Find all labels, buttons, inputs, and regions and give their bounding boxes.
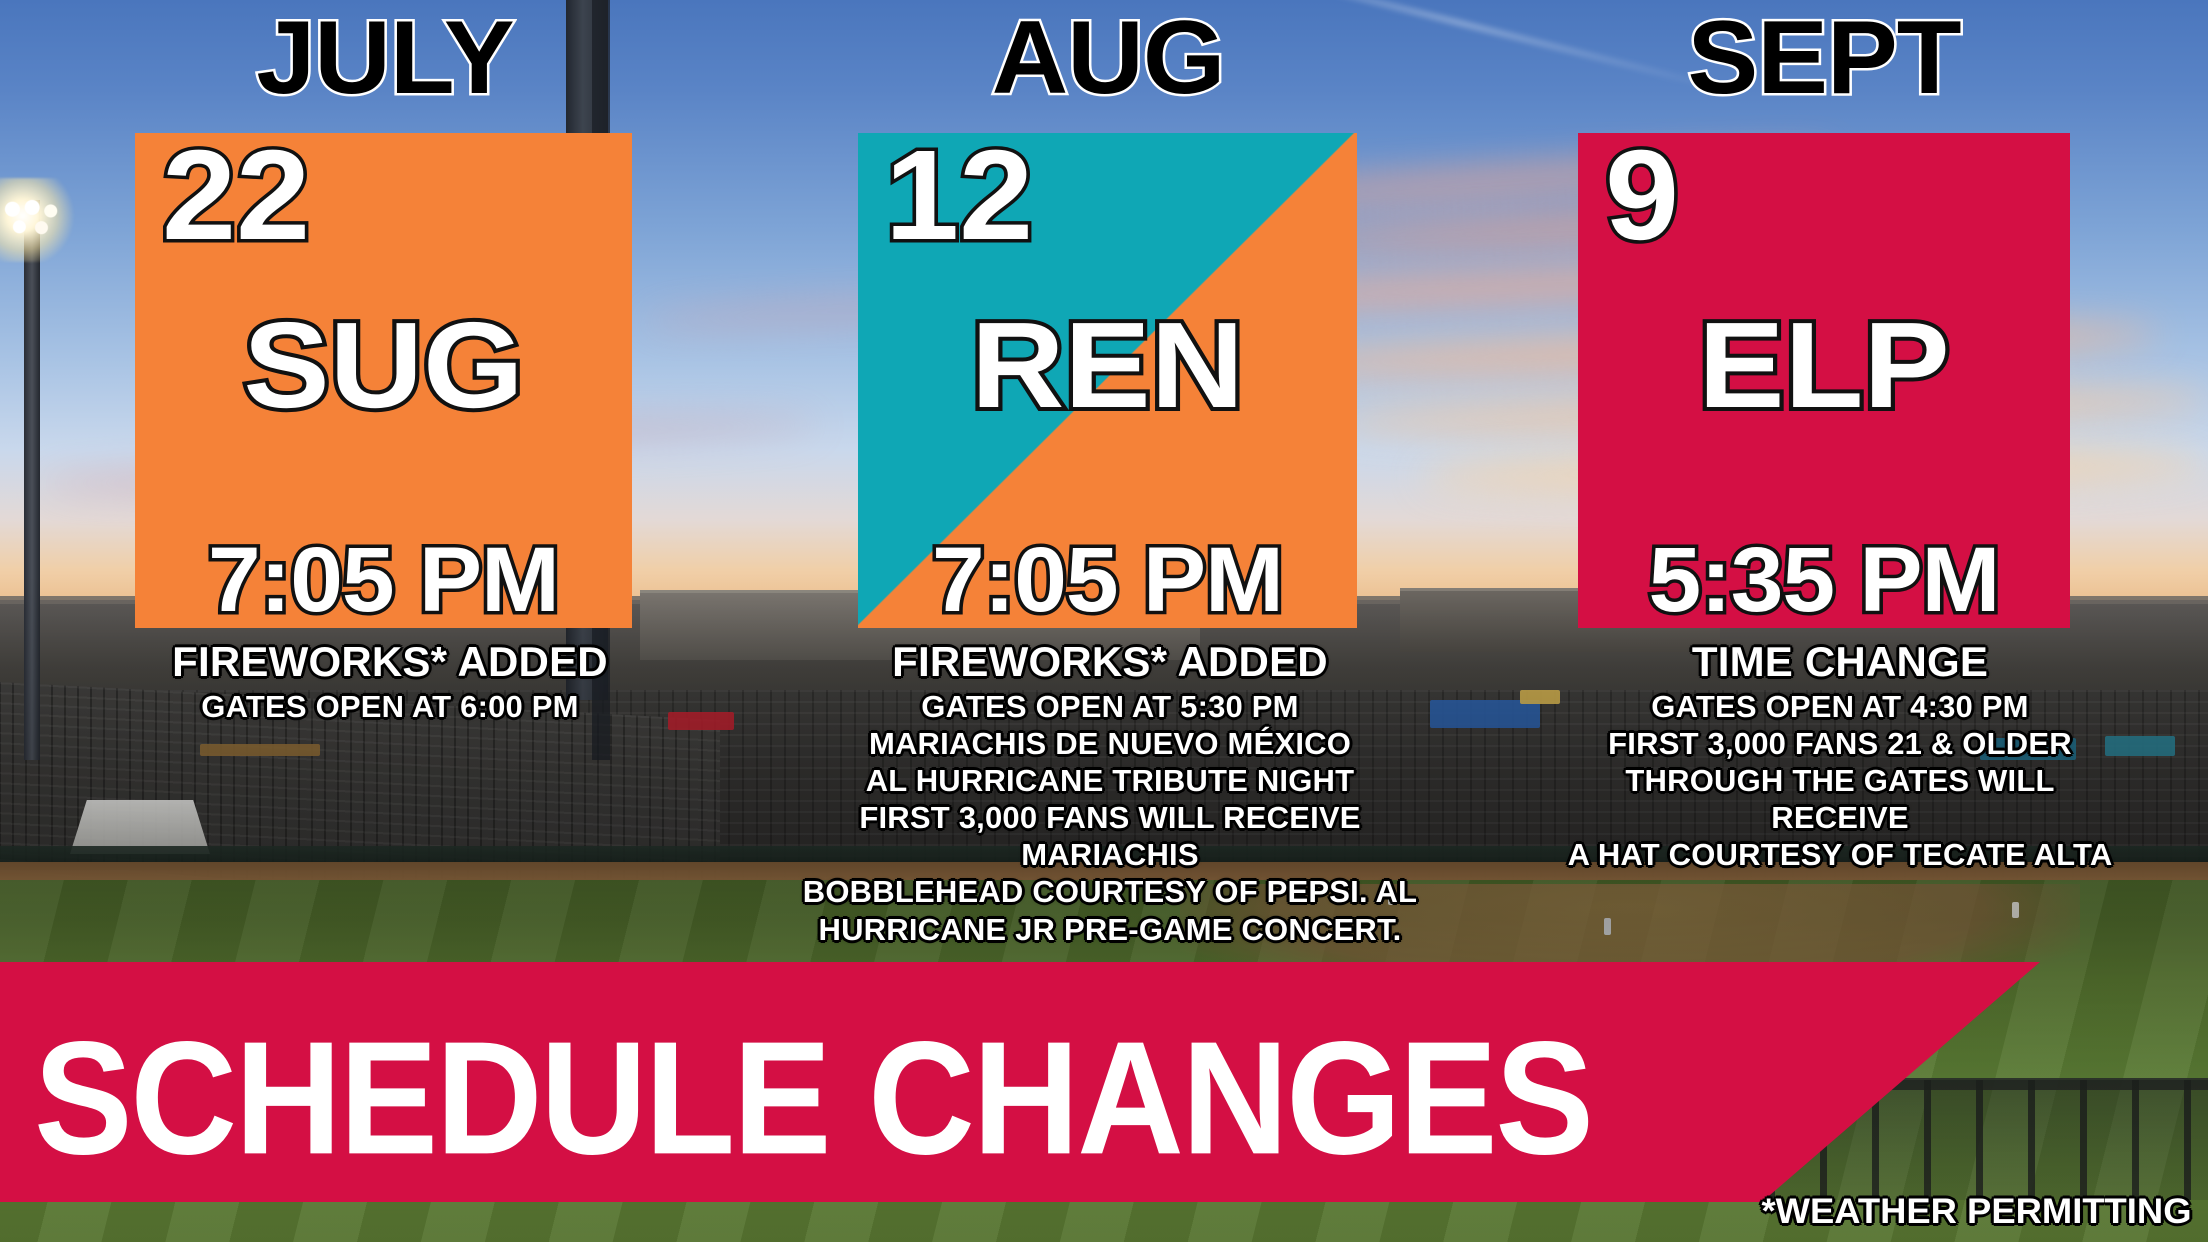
banner-title: SCHEDULE CHANGES (34, 1018, 2140, 1179)
month-label-aug: AUG (853, 6, 1363, 110)
game-day-aug: 12 (858, 133, 1357, 255)
game-notes-aug: FIREWORKS* ADDED GATES OPEN AT 5:30 PM M… (770, 640, 1450, 948)
opponent-code-july: SUG (135, 304, 632, 426)
game-notes-sept: TIME CHANGE GATES OPEN AT 4:30 PM FIRST … (1560, 640, 2120, 873)
note-line: GATES OPEN AT 5:30 PM (770, 688, 1450, 725)
note-line: GATES OPEN AT 6:00 PM (110, 688, 670, 725)
opponent-code-aug: REN (858, 304, 1357, 426)
schedule-changes-graphic: JULY 22 SUG 7:05 PM FIREWORKS* ADDED GAT… (0, 0, 2208, 1242)
game-time-sept: 5:35 PM (1578, 534, 2070, 628)
game-card-july[interactable]: 22 SUG 7:05 PM (135, 133, 632, 628)
note-line: FIRST 3,000 FANS WILL RECEIVE MARIACHIS (770, 799, 1450, 873)
note-headline-july: FIREWORKS* ADDED (110, 640, 670, 685)
game-card-sept[interactable]: 9 ELP 5:35 PM (1578, 133, 2070, 628)
note-line: HURRICANE JR PRE-GAME CONCERT. (770, 911, 1450, 948)
note-line: BOBBLEHEAD COURTESY OF PEPSI. AL (770, 873, 1450, 910)
note-line: GATES OPEN AT 4:30 PM (1560, 688, 2120, 725)
weather-permitting-footnote: *WEATHER PERMITTING (1762, 1192, 2192, 1232)
month-label-july: JULY (130, 6, 640, 110)
note-headline-aug: FIREWORKS* ADDED (770, 640, 1450, 685)
game-card-aug[interactable]: 12 REN 7:05 PM (858, 133, 1357, 628)
game-time-july: 7:05 PM (135, 534, 632, 628)
game-time-aug: 7:05 PM (858, 534, 1357, 628)
note-line: AL HURRICANE TRIBUTE NIGHT (770, 762, 1450, 799)
game-day-sept: 9 (1578, 133, 2070, 255)
schedule-content: JULY 22 SUG 7:05 PM FIREWORKS* ADDED GAT… (0, 0, 2208, 1242)
month-label-sept: SEPT (1573, 6, 2075, 110)
note-line: A HAT COURTESY OF TECATE ALTA (1560, 836, 2120, 873)
note-line: MARIACHIS DE NUEVO MÉXICO (770, 725, 1450, 762)
game-day-july: 22 (135, 133, 632, 255)
opponent-code-sept: ELP (1578, 304, 2070, 426)
note-line: FIRST 3,000 FANS 21 & OLDER (1560, 725, 2120, 762)
game-notes-july: FIREWORKS* ADDED GATES OPEN AT 6:00 PM (110, 640, 670, 725)
note-line: THROUGH THE GATES WILL RECEIVE (1560, 762, 2120, 836)
note-headline-sept: TIME CHANGE (1560, 640, 2120, 685)
